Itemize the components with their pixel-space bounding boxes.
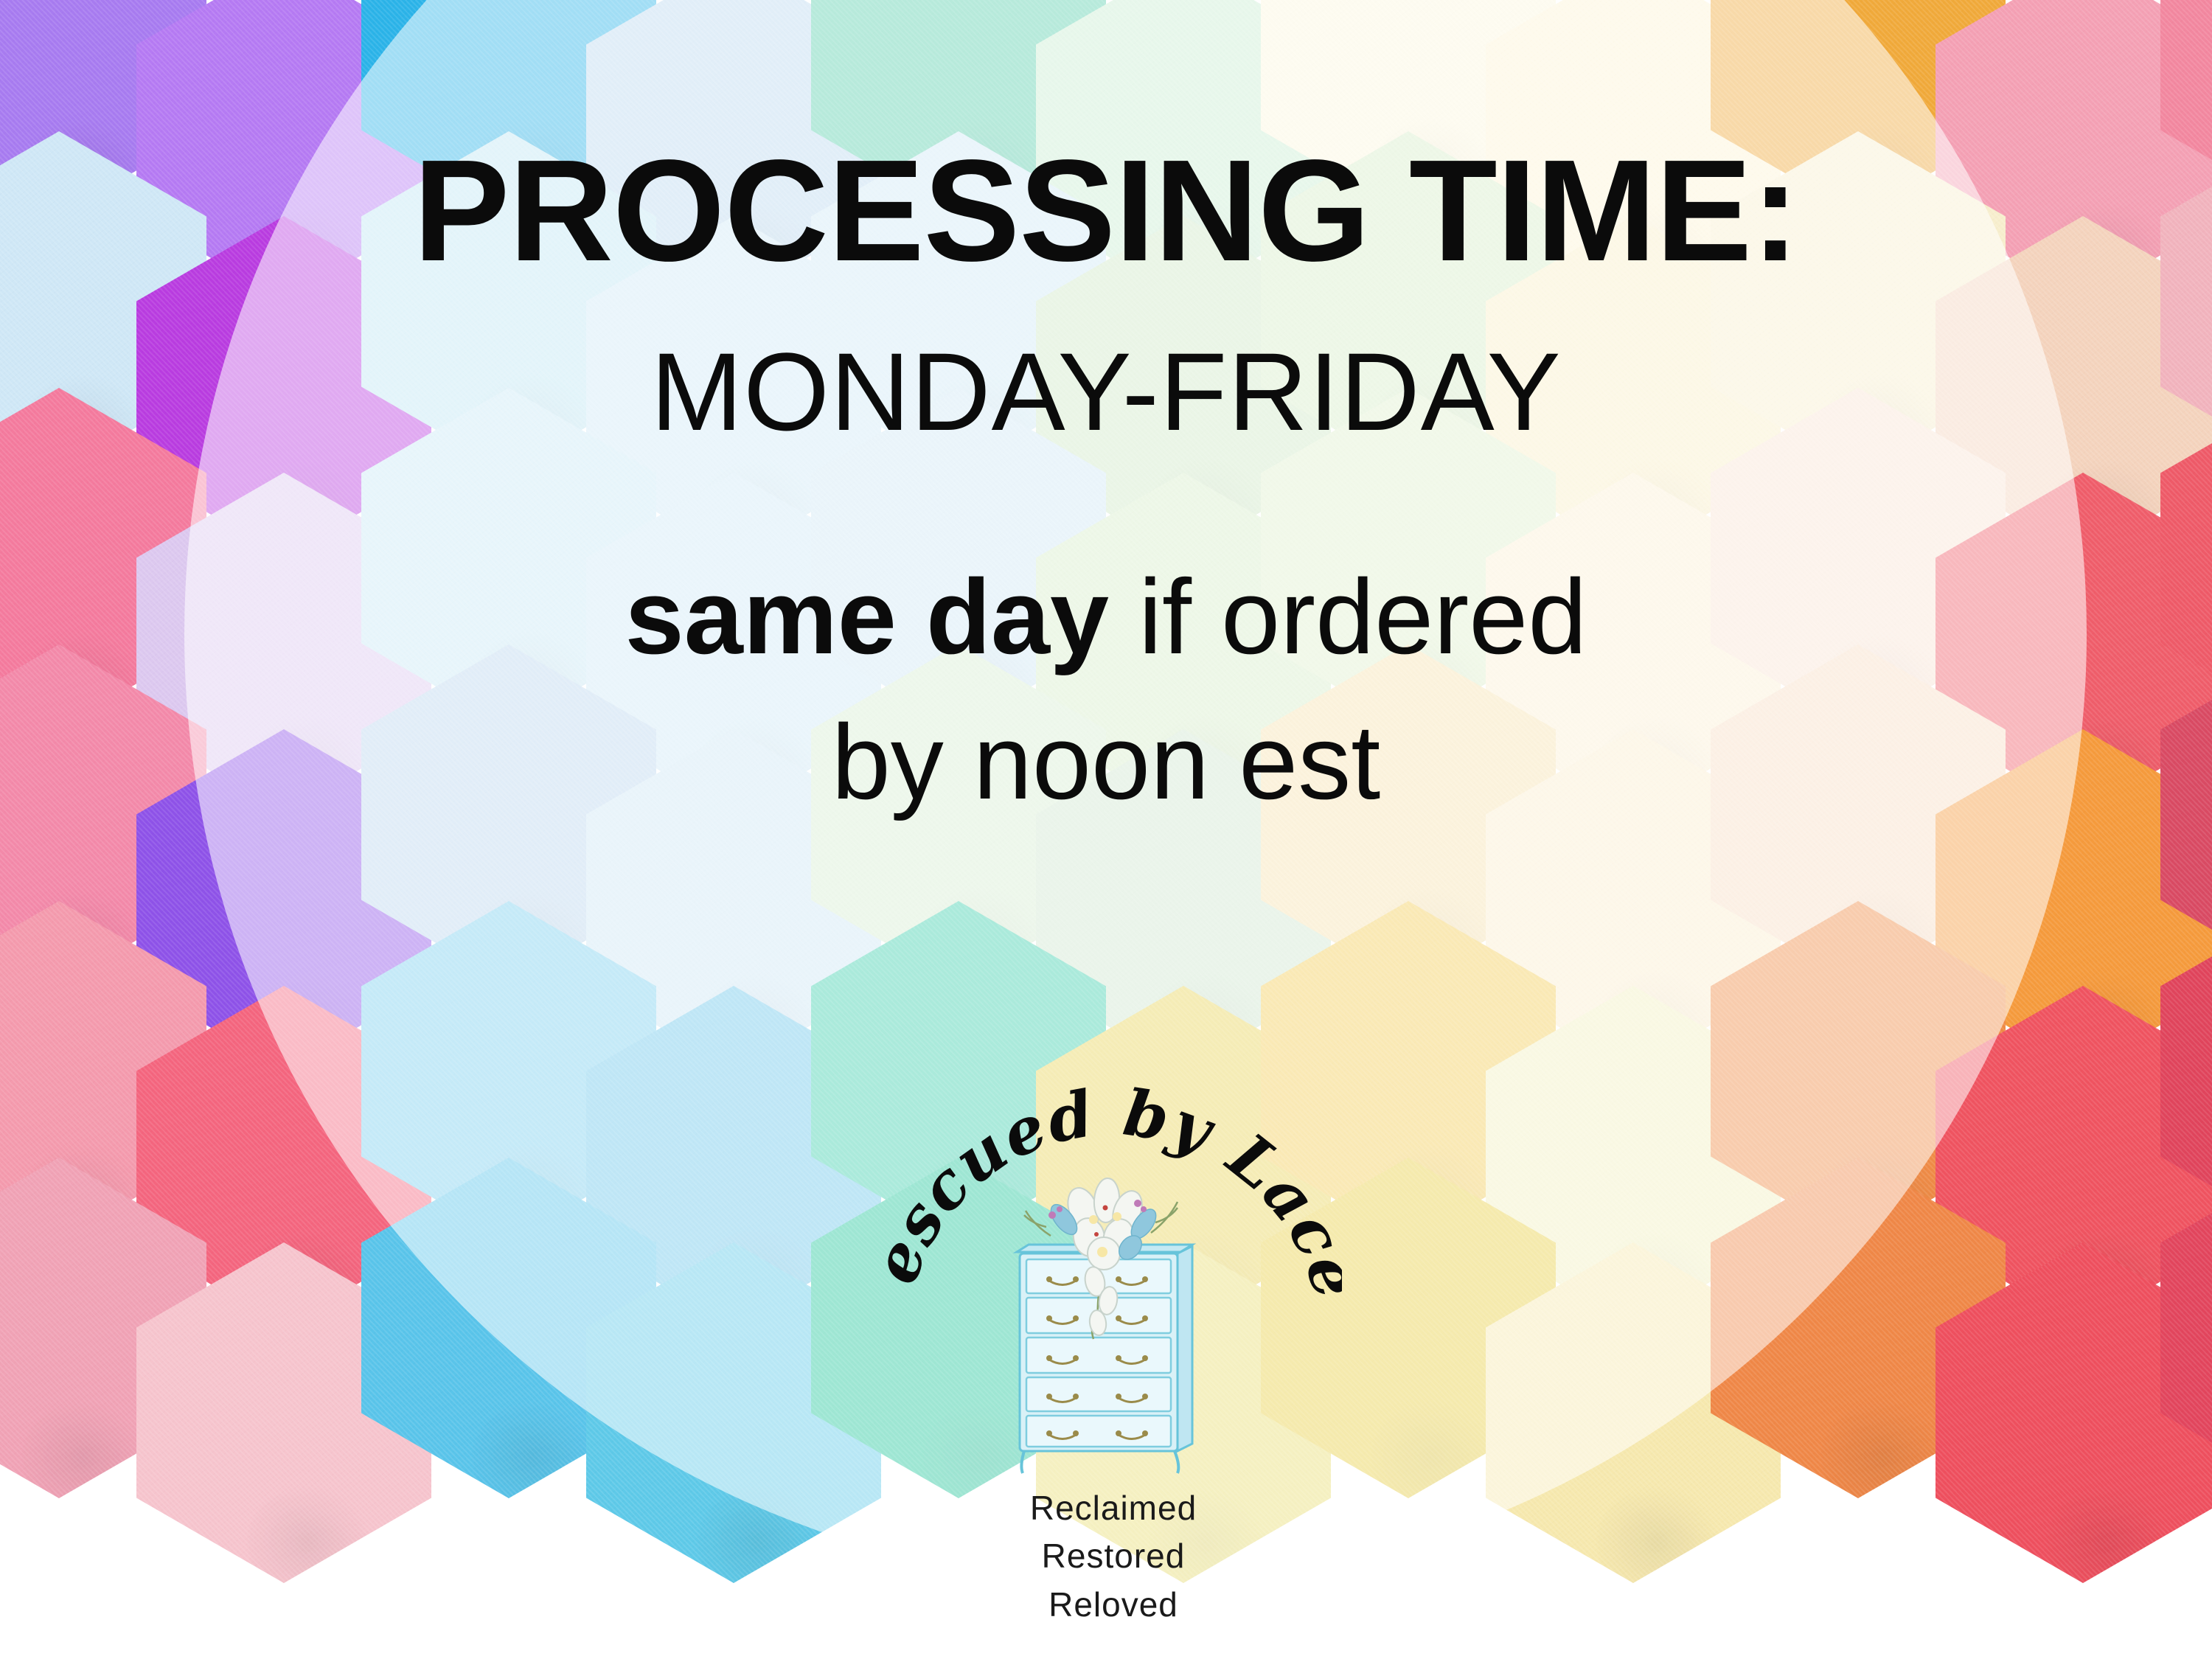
- same-day-line: same day if ordered: [0, 550, 2212, 684]
- tagline-line-1: Reclaimed: [907, 1484, 1320, 1532]
- if-ordered-text: if ordered: [1109, 557, 1587, 676]
- tagline-line-2: Restored: [907, 1532, 1320, 1580]
- same-day-emphasis: same day: [625, 557, 1109, 676]
- tagline-line-3: Reloved: [907, 1581, 1320, 1629]
- poster-canvas: PROCESSING TIME: MONDAY-FRIDAY same day …: [0, 0, 2212, 1659]
- dresser-illustration-icon: [1006, 1165, 1220, 1478]
- brand-logo: Rescued by Lacey: [907, 1014, 1320, 1618]
- poster-copy: PROCESSING TIME: MONDAY-FRIDAY same day …: [0, 0, 2212, 829]
- cutoff-line: by noon est: [0, 695, 2212, 829]
- days-line: MONDAY-FRIDAY: [0, 336, 2212, 447]
- page-title: PROCESSING TIME:: [0, 139, 2212, 283]
- brand-tagline: Reclaimed Restored Reloved: [907, 1484, 1320, 1629]
